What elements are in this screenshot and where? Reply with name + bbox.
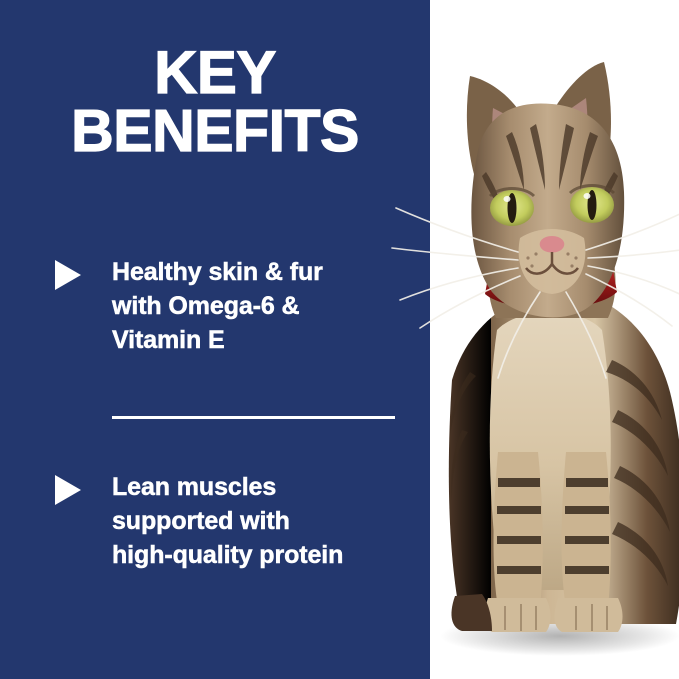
key-benefits-poster: KEY BENEFITS Healthy skin & fur with Ome… — [0, 0, 679, 679]
triangle-right-icon — [55, 475, 81, 505]
cat-body-stripes — [606, 360, 670, 586]
page-title: KEY BENEFITS — [0, 44, 430, 161]
benefit-1-text: Healthy skin & fur with Omega-6 & Vitami… — [112, 255, 405, 357]
cat-tail — [612, 540, 679, 622]
collar-buckle — [527, 276, 538, 304]
benefit-2-line-3: high-quality protein — [112, 538, 405, 572]
benefit-2-line-1: Lean muscles — [112, 470, 405, 504]
section-divider — [112, 416, 395, 419]
cat-rear-paw — [451, 594, 492, 631]
benefit-2-text: Lean muscles supported with high-quality… — [112, 470, 405, 572]
cat-head — [471, 103, 624, 317]
benefit-2-line-2: supported with — [112, 504, 405, 538]
cat-whiskers — [392, 208, 679, 378]
benefit-item-2: Lean muscles supported with high-quality… — [55, 470, 405, 572]
cat-neck — [489, 250, 616, 318]
cat-paw-right — [555, 598, 623, 632]
benefit-1-line-1: Healthy skin & fur — [112, 255, 405, 289]
cat-chest — [490, 312, 611, 590]
cat-eye-right — [570, 187, 614, 223]
cat-ear-right-inner — [560, 98, 588, 192]
cat-ear-left — [467, 76, 520, 206]
cat-front-leg-left — [494, 452, 543, 608]
cat-nose — [540, 236, 565, 253]
collar-keeper — [563, 276, 573, 304]
headline-line-1: KEY — [0, 44, 430, 103]
cat-collar — [485, 270, 617, 309]
headline-line-2: BENEFITS — [0, 103, 430, 161]
collar-tongue — [540, 292, 562, 299]
cat-eye-left — [490, 190, 534, 226]
benefit-1-line-2: with Omega-6 & — [112, 289, 405, 323]
cat-ear-left-inner — [492, 108, 520, 196]
triangle-right-icon — [55, 260, 81, 290]
cat-body — [449, 290, 679, 624]
cat-paw-left — [485, 598, 551, 632]
benefit-1-line-3: Vitamin E — [112, 323, 405, 357]
cat-forehead-markings — [482, 124, 618, 212]
cat-front-leg-right — [562, 452, 611, 608]
benefit-item-1: Healthy skin & fur with Omega-6 & Vitami… — [55, 255, 405, 357]
cat-ear-right — [556, 62, 611, 202]
cat-muzzle — [519, 229, 586, 294]
